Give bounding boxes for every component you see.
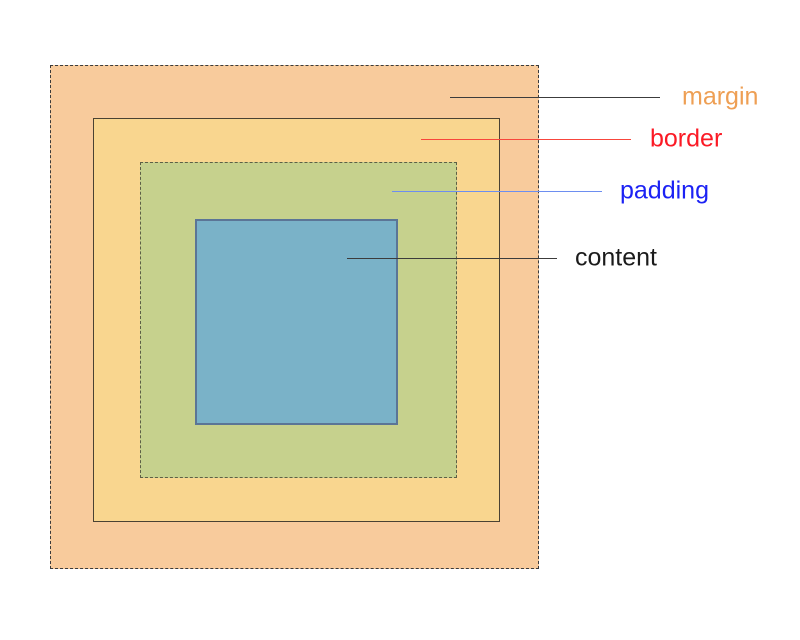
leader-line-border (421, 139, 631, 140)
leader-line-margin (450, 97, 660, 98)
box-model-diagram: margin border padding content (0, 0, 800, 640)
margin-box (50, 65, 539, 569)
callout-label-border: border (650, 127, 722, 152)
callout-label-content: content (575, 246, 657, 271)
leader-line-content (347, 258, 557, 259)
border-box (93, 118, 500, 522)
content-box (195, 219, 398, 425)
callout-label-margin: margin (682, 85, 758, 110)
callout-label-padding: padding (620, 179, 709, 204)
padding-box (140, 162, 457, 478)
leader-line-padding (392, 191, 602, 192)
